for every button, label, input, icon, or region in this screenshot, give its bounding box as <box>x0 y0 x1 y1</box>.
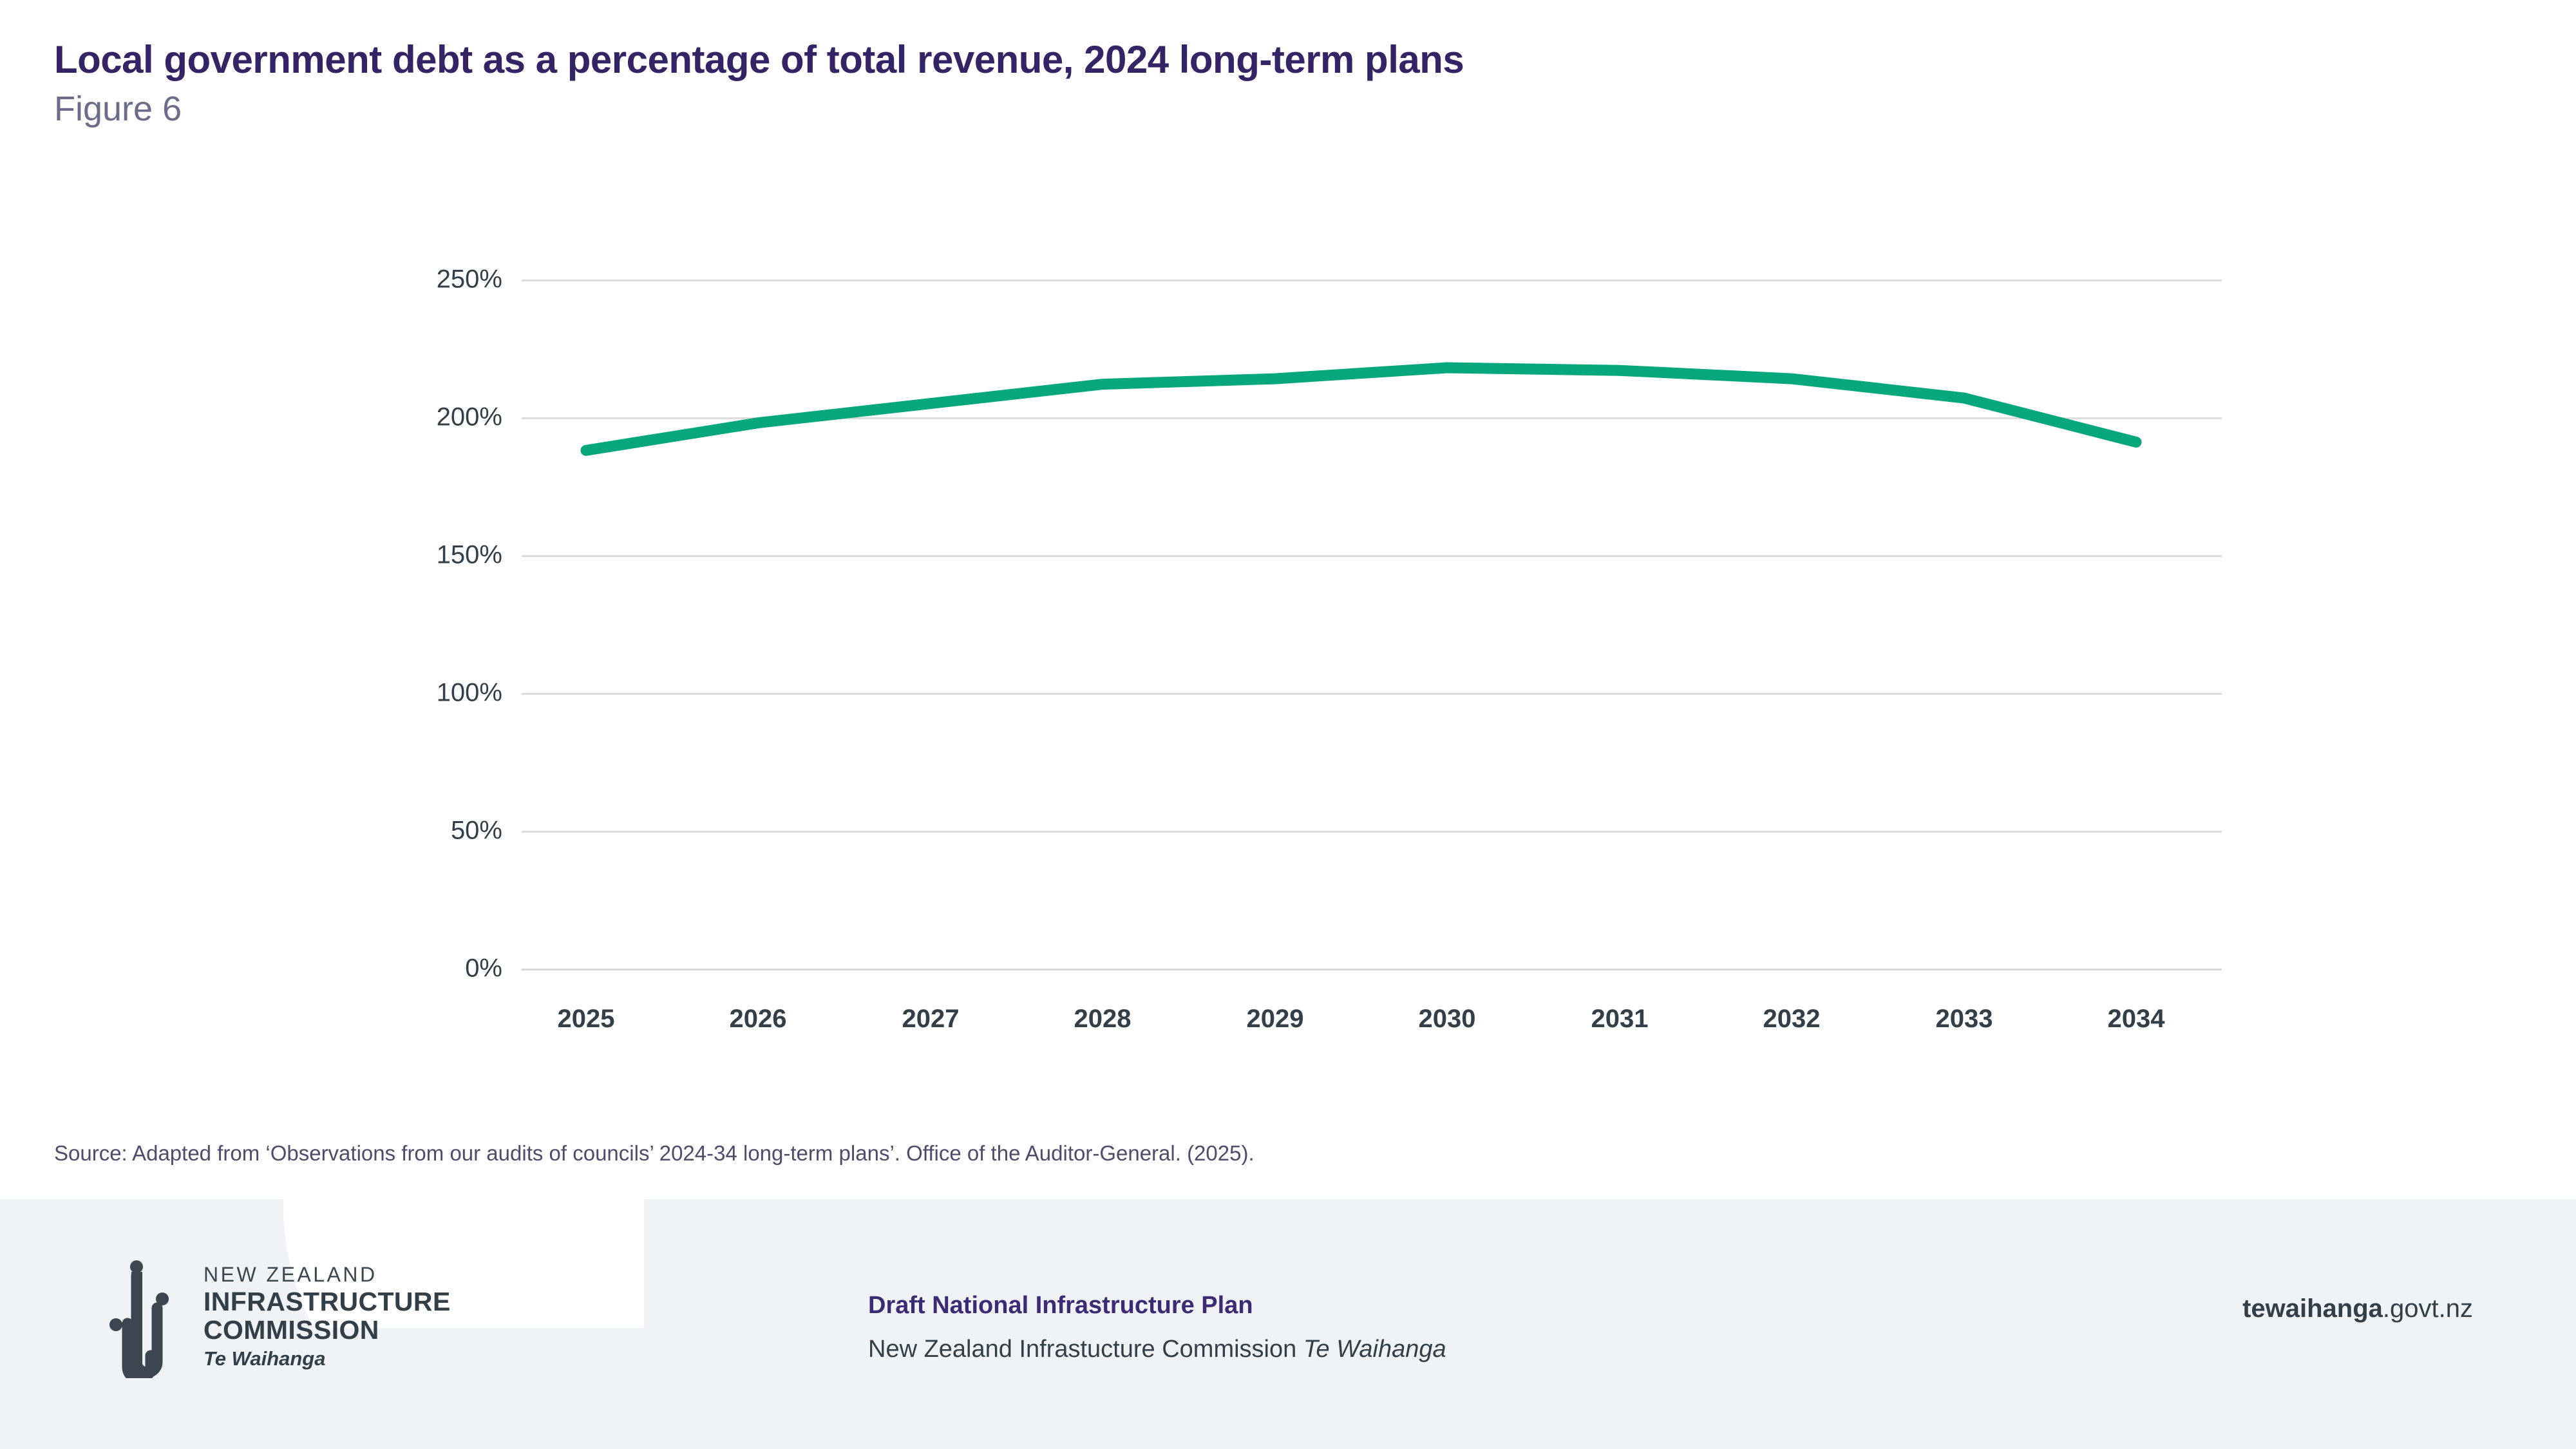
logo-wordmark: NEW ZEALAND INFRASTRUCTURE COMMISSION Te… <box>204 1264 451 1370</box>
logo-line-te-waihanga: Te Waihanga <box>204 1348 451 1370</box>
x-tick-2025: 2025 <box>558 1005 615 1034</box>
y-tick-200: 200% <box>335 403 502 432</box>
footer-doc-title: Draft National Infrastructure Plan <box>868 1291 1446 1321</box>
chart-container: Debt/revenue ratio 250% 200% 150% 100% 5… <box>0 0 2576 1095</box>
series-line-debt-revenue-ratio <box>522 279 2222 969</box>
y-axis-labels: 250% 200% 150% 100% 50% 0% <box>0 0 522 1095</box>
footer-document-info: Draft National Infrastructure Plan New Z… <box>868 1291 1446 1364</box>
footer-website-link[interactable]: tewaihanga.govt.nz <box>2242 1294 2473 1323</box>
footer-org-name: New Zealand Infrastucture Commission <box>868 1336 1303 1363</box>
x-tick-2030: 2030 <box>1419 1005 1476 1034</box>
logo-line-new-zealand: NEW ZEALAND <box>204 1264 451 1285</box>
website-domain: .govt.nz <box>2383 1294 2473 1323</box>
logo-mark-icon <box>108 1259 185 1378</box>
x-tick-2032: 2032 <box>1763 1005 1821 1034</box>
y-tick-150: 150% <box>335 541 502 570</box>
x-tick-2027: 2027 <box>902 1005 960 1034</box>
logo-line-commission: COMMISSION <box>204 1316 451 1344</box>
source-note: Source: Adapted from ‘Observations from … <box>54 1141 1255 1166</box>
nz-infrastructure-commission-logo: NEW ZEALAND INFRASTRUCTURE COMMISSION Te… <box>108 1259 443 1378</box>
gridline-0 <box>522 969 2222 971</box>
footer-organisation: New Zealand Infrastucture Commission Te … <box>868 1335 1446 1365</box>
y-tick-250: 250% <box>335 265 502 294</box>
x-tick-2033: 2033 <box>1936 1005 1993 1034</box>
footer-org-name-maori: Te Waihanga <box>1303 1336 1446 1363</box>
x-tick-2029: 2029 <box>1247 1005 1304 1034</box>
logo-line-infrastructure: INFRASTRUCTURE <box>204 1287 451 1316</box>
y-tick-0: 0% <box>335 954 502 983</box>
x-tick-2026: 2026 <box>730 1005 787 1034</box>
x-tick-2034: 2034 <box>2108 1005 2165 1034</box>
y-tick-100: 100% <box>335 679 502 708</box>
y-tick-50: 50% <box>335 817 502 846</box>
x-axis-labels: 2025 2026 2027 2028 2029 2030 2031 2032 … <box>522 1005 2222 1050</box>
x-tick-2028: 2028 <box>1074 1005 1132 1034</box>
website-brand: tewaihanga <box>2242 1294 2383 1323</box>
x-tick-2031: 2031 <box>1591 1005 1649 1034</box>
